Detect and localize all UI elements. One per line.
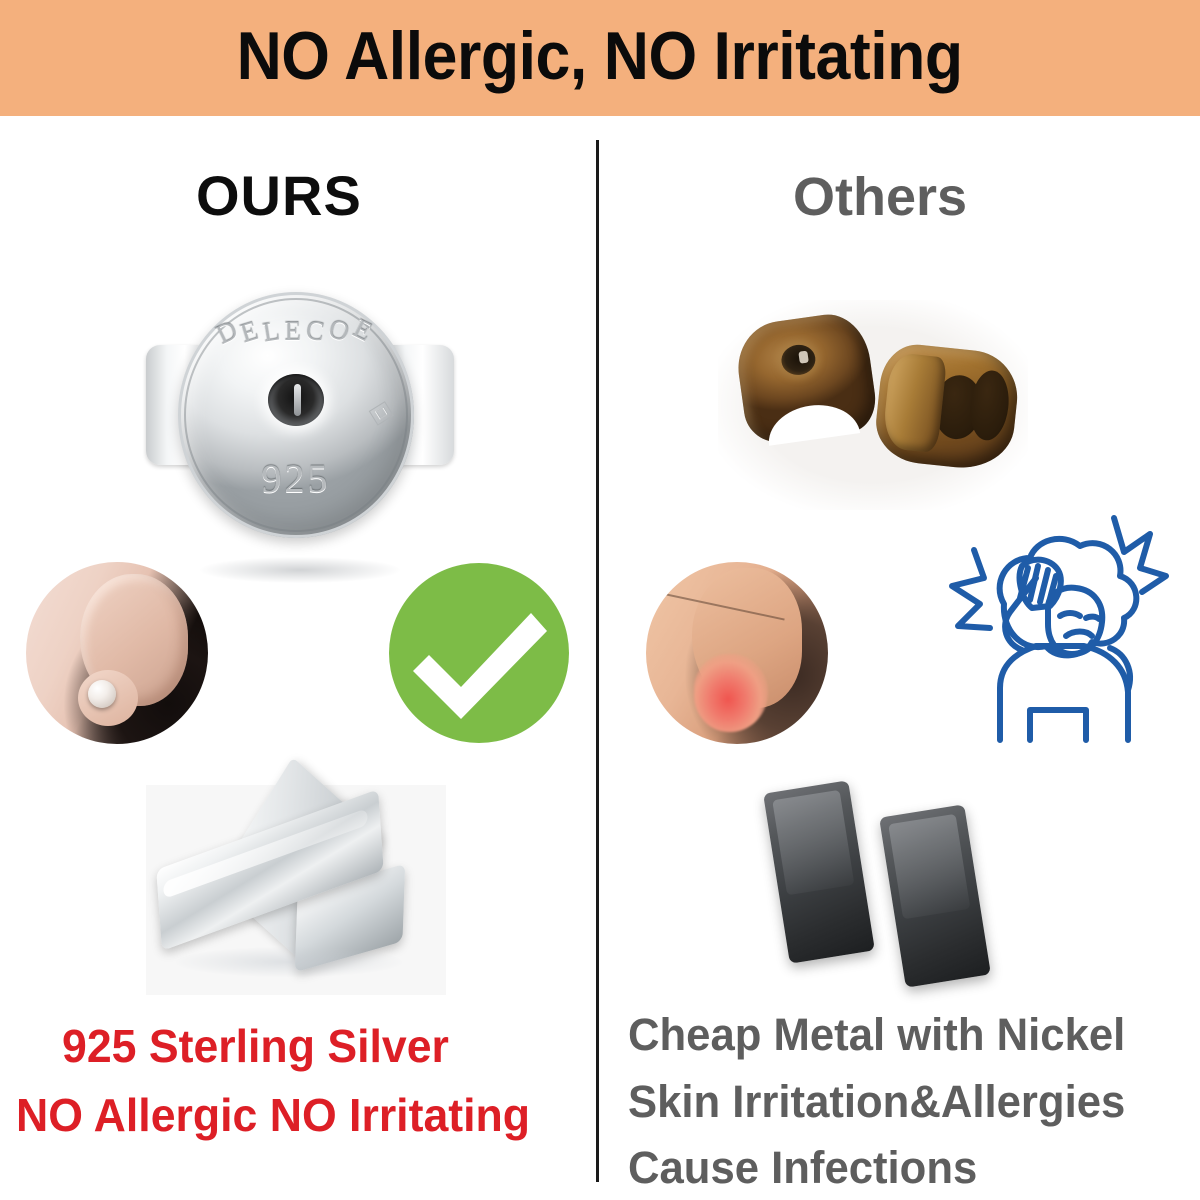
purity-engraving: 925	[178, 455, 414, 502]
others-caption-line-3: Cause Infections	[628, 1145, 977, 1190]
header-banner: NO Allergic, NO Irritating	[0, 0, 1200, 116]
inflamed-earlobe-area	[694, 654, 768, 732]
headache-person-icon	[944, 512, 1170, 748]
bronze-back-right	[872, 341, 1022, 473]
check-icon	[389, 563, 569, 743]
pearl-stud-earring	[88, 680, 116, 708]
silver-ingot-reflection	[176, 947, 402, 977]
earring-back-disc: DELECOE □ 925	[178, 292, 414, 538]
bronze-back-left	[732, 309, 879, 446]
ours-caption-line-2: NO Allergic NO Irritating	[16, 1092, 530, 1138]
silver-ingots-image	[146, 785, 446, 995]
earring-back-shadow	[200, 557, 400, 583]
page-title: NO Allergic, NO Irritating	[237, 22, 963, 94]
dark-metal-bar-left	[763, 780, 875, 963]
column-heading-ours: OURS	[196, 168, 362, 224]
dark-metal-bars-image	[756, 782, 1016, 994]
healthy-ear-photo	[26, 562, 208, 744]
column-divider	[596, 140, 599, 1182]
bronze-earring-backs-image	[718, 300, 1028, 510]
dark-metal-bar-right	[879, 804, 991, 987]
earring-back-center-hole	[268, 374, 324, 426]
others-caption-line-2: Skin Irritation&Allergies	[628, 1079, 1125, 1124]
irritated-ear-photo	[646, 562, 828, 744]
ours-caption-line-1: 925 Sterling Silver	[62, 1023, 449, 1069]
column-heading-others: Others	[793, 170, 967, 224]
silver-earring-back-image: DELECOE □ 925	[150, 290, 450, 565]
others-caption-line-1: Cheap Metal with Nickel	[628, 1012, 1125, 1057]
